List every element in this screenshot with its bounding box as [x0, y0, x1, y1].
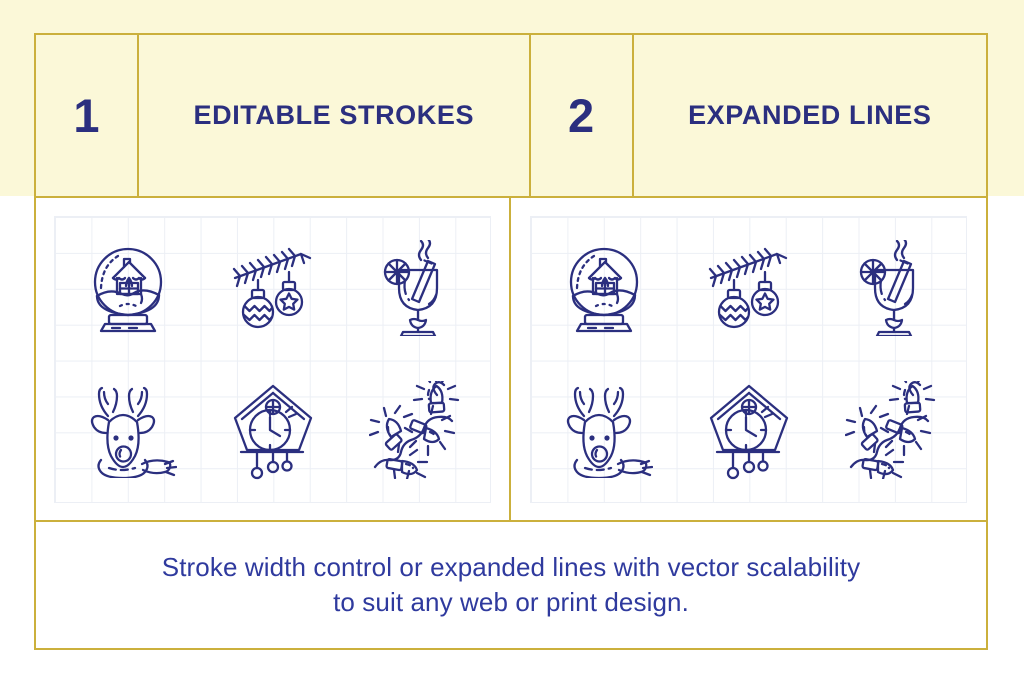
- cuckoo-clock-icon: [229, 380, 317, 480]
- mulled-wine-glass-icon: [379, 240, 457, 336]
- header-row: 1 EDITABLE STROKES 2 EXPANDED LINES: [36, 35, 986, 198]
- step-1-title-cell: EDITABLE STROKES: [139, 35, 531, 196]
- icon-grid-expanded-lines: [530, 216, 967, 503]
- icon-cell-snow-globe: [55, 217, 200, 360]
- icon-cell-mulled-wine-glass: [821, 217, 966, 360]
- icon-showcase-row: [36, 198, 986, 522]
- icon-cell-christmas-lights: [821, 359, 966, 502]
- icon-cell-mulled-wine-glass: [345, 217, 490, 360]
- icon-cell-cuckoo-clock: [676, 359, 821, 502]
- step-2-title: EXPANDED LINES: [688, 102, 931, 129]
- icon-grid-editable-strokes: [54, 216, 491, 503]
- step-1-number: 1: [73, 92, 99, 139]
- caption-row: Stroke width control or expanded lines w…: [36, 522, 986, 648]
- reindeer-head-icon: [555, 382, 653, 478]
- reindeer-head-icon: [79, 382, 177, 478]
- icon-cell-reindeer-head: [531, 359, 676, 502]
- icon-cell-cuckoo-clock: [200, 359, 345, 502]
- icon-cell-snow-globe: [531, 217, 676, 360]
- icon-cell-fir-branch-baubles: [676, 217, 821, 360]
- icon-cell-reindeer-head: [55, 359, 200, 502]
- snow-globe-icon: [84, 242, 172, 334]
- step-1-title: EDITABLE STROKES: [193, 102, 474, 129]
- step-1-number-cell: 1: [36, 35, 139, 196]
- mulled-wine-glass-icon: [855, 240, 933, 336]
- step-2-number-cell: 2: [531, 35, 634, 196]
- icon-cell-christmas-lights: [345, 359, 490, 502]
- step-2-title-cell: EXPANDED LINES: [634, 35, 986, 196]
- christmas-lights-icon: [845, 381, 943, 479]
- cuckoo-clock-icon: [705, 380, 793, 480]
- icon-cell-fir-branch-baubles: [200, 217, 345, 360]
- christmas-lights-icon: [369, 381, 467, 479]
- fir-branch-baubles-icon: [227, 242, 319, 334]
- feature-spec-table: 1 EDITABLE STROKES 2 EXPANDED LINES: [34, 33, 988, 650]
- showcase-panel-editable-strokes: [36, 198, 511, 520]
- caption-text: Stroke width control or expanded lines w…: [162, 550, 860, 620]
- step-2-number: 2: [568, 92, 594, 139]
- showcase-panel-expanded-lines: [511, 198, 986, 520]
- snow-globe-icon: [560, 242, 648, 334]
- fir-branch-baubles-icon: [703, 242, 795, 334]
